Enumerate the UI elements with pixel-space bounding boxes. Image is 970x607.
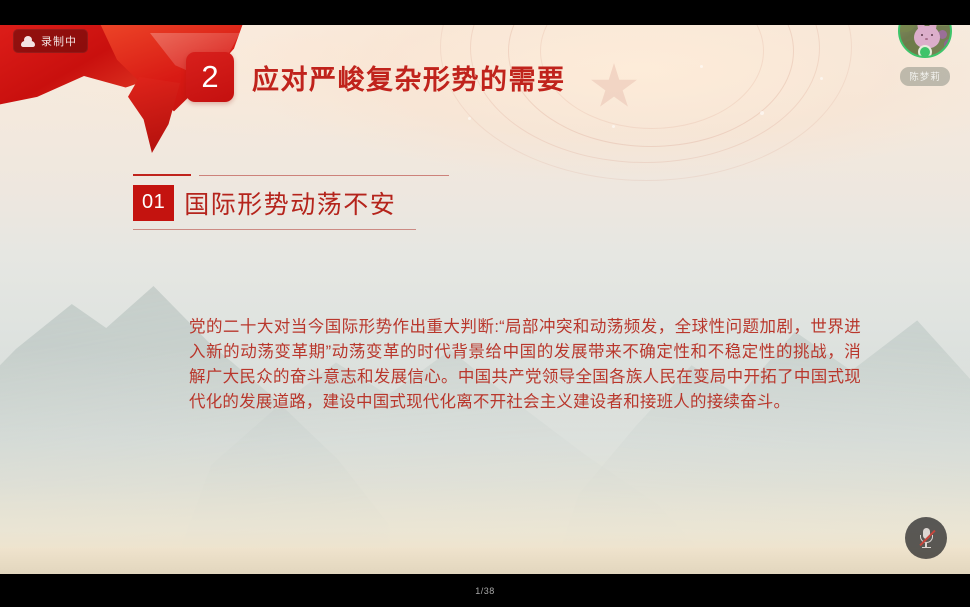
recording-label: 录制中 xyxy=(41,33,77,49)
slide-number-badge: 2 xyxy=(186,52,234,102)
cloud-record-icon xyxy=(21,36,35,47)
divider-bottom xyxy=(133,229,416,230)
speck xyxy=(700,65,703,68)
letterbox-top xyxy=(0,0,970,25)
speck xyxy=(612,125,615,128)
background-ground xyxy=(0,548,970,574)
slide-header: 2 应对严峻复杂形势的需要 xyxy=(186,52,566,102)
presentation-viewer: 2 应对严峻复杂形势的需要 01 国际形势动荡不安 党的二十大对当今国际形势作出… xyxy=(0,0,970,607)
speck xyxy=(760,111,764,115)
status-indicator xyxy=(918,45,932,58)
participant-name: 陈梦莉 xyxy=(900,67,950,86)
microphone-muted-icon xyxy=(919,528,934,548)
slide-title: 应对严峻复杂形势的需要 xyxy=(252,58,566,97)
slide-body-text: 党的二十大对当今国际形势作出重大判断:“局部冲突和动荡频发，全球性问题加剧，世界… xyxy=(189,315,861,415)
divider-top xyxy=(133,172,433,176)
page-indicator: 1/38 xyxy=(0,574,970,607)
speck xyxy=(820,77,823,80)
slide-canvas: 2 应对严峻复杂形势的需要 01 国际形势动荡不安 党的二十大对当今国际形势作出… xyxy=(0,25,970,574)
section-title: 国际形势动荡不安 xyxy=(184,185,396,221)
slide-section: 01 国际形势动荡不安 xyxy=(133,172,433,230)
speck xyxy=(468,117,471,120)
recording-indicator[interactable]: 录制中 xyxy=(13,29,88,53)
microphone-toggle-button[interactable] xyxy=(905,517,947,559)
section-number-badge: 01 xyxy=(133,185,174,221)
